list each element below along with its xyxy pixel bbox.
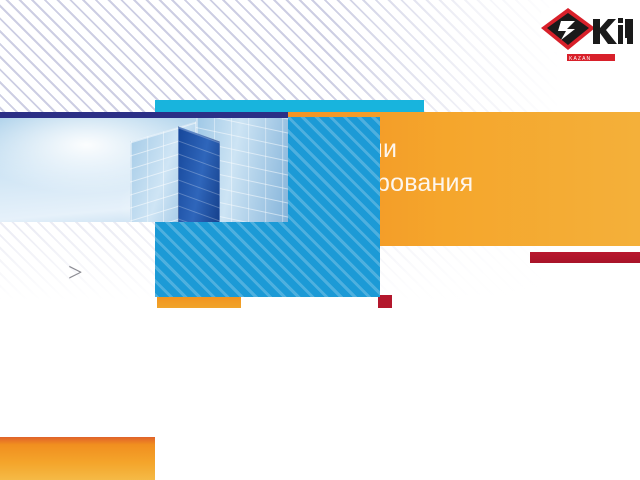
presentation-slide: Задачи тестирования > (0, 0, 640, 480)
glass-building-photo (0, 112, 288, 222)
photo-tower-dark (178, 126, 220, 222)
logo-artwork: K A Z A N (537, 4, 635, 66)
crimson-accent-bar (530, 252, 640, 263)
logo-subtitle-text: K A Z A N (569, 56, 591, 62)
chevron-right-icon: > (68, 258, 90, 288)
orange-accent-bar (157, 297, 241, 308)
bottom-orange-band (0, 437, 155, 480)
crimson-accent-square (378, 295, 392, 308)
logo-subtitle: K A Z A N (567, 54, 615, 62)
kir-kazan-logo: K A Z A N (537, 4, 635, 66)
photo-navy-top-border (0, 112, 288, 118)
